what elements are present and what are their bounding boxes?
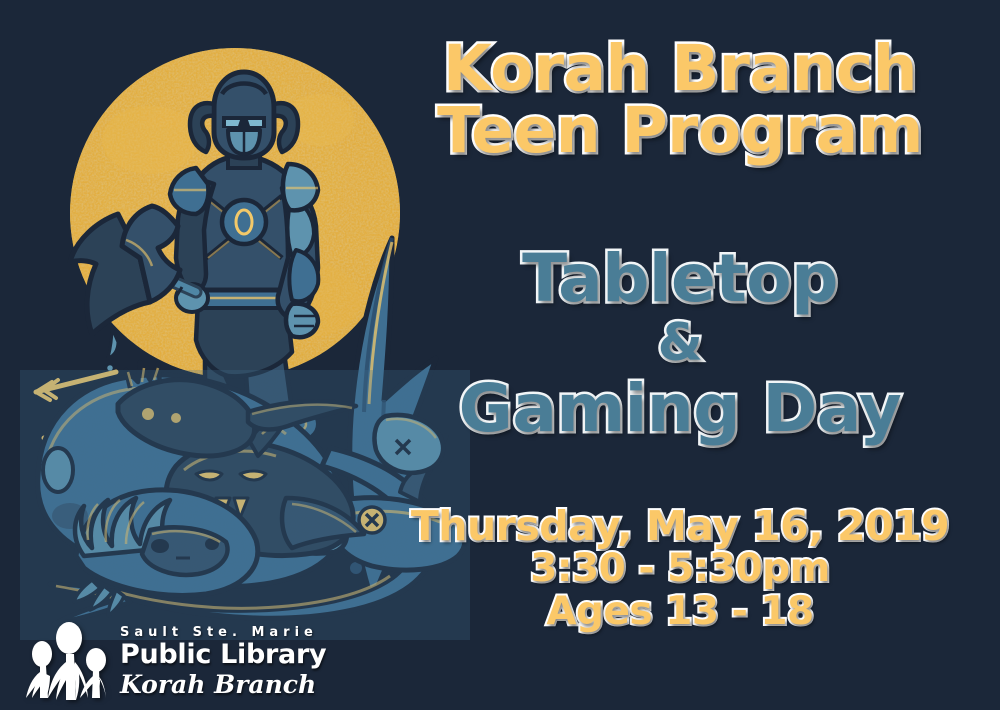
poster-text-column: Korah Branch Teen Program Tabletop & Gam… bbox=[380, 0, 1000, 710]
library-logo: Sault Ste. Marie Public Library Korah Br… bbox=[26, 610, 296, 702]
title-line-1: Korah Branch bbox=[380, 38, 980, 100]
event-details: Thursday, May 16, 2019 3:30 - 5:30pm Age… bbox=[380, 505, 980, 634]
event-time: 3:30 - 5:30pm bbox=[380, 548, 980, 591]
event-poster: Korah Branch Teen Program Tabletop & Gam… bbox=[0, 0, 1000, 710]
subtitle-ampersand: & bbox=[380, 314, 980, 372]
logo-text-block: Sault Ste. Marie Public Library Korah Br… bbox=[120, 625, 326, 702]
event-ages: Ages 13 - 18 bbox=[380, 591, 980, 634]
title-line-2: Teen Program bbox=[380, 100, 980, 162]
poster-subtitle: Tabletop & Gaming Day bbox=[380, 243, 980, 444]
logo-line-library: Public Library bbox=[120, 640, 326, 670]
subtitle-line-3: Gaming Day bbox=[380, 373, 980, 444]
logo-line-city: Sault Ste. Marie bbox=[120, 625, 326, 640]
subtitle-line-1: Tabletop bbox=[380, 243, 980, 314]
event-date: Thursday, May 16, 2019 bbox=[380, 505, 980, 548]
cattail-reeds-icon bbox=[26, 618, 110, 702]
logo-line-branch: Korah Branch bbox=[120, 671, 326, 699]
poster-title: Korah Branch Teen Program bbox=[380, 38, 980, 161]
